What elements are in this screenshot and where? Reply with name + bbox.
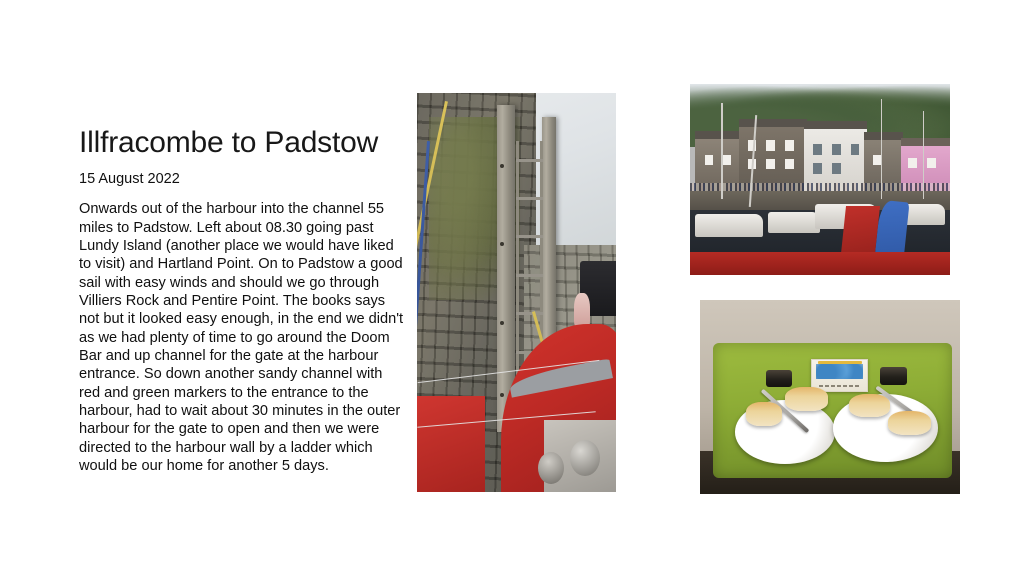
moored-boat	[768, 212, 820, 233]
padstow-harbour-photo	[690, 84, 950, 275]
boat-mast	[721, 103, 723, 199]
scone	[785, 387, 828, 410]
presentation-slide: Illfracombe to Padstow 15 August 2022 On…	[0, 0, 1024, 576]
scone	[888, 411, 931, 435]
building-white	[804, 128, 866, 191]
slide-date: 15 August 2022	[79, 170, 404, 189]
boat-mast	[923, 111, 925, 199]
cream-tea-scones-photo	[700, 300, 960, 494]
yacht-winch	[570, 440, 600, 476]
harbour-wall-ladder-photo	[417, 93, 616, 492]
slide-body-text: Onwards out of the harbour into the chan…	[79, 200, 404, 475]
scone	[849, 394, 890, 417]
slide-text-column: Illfracombe to Padstow 15 August 2022 On…	[79, 126, 404, 475]
scone	[746, 402, 782, 425]
page-title: Illfracombe to Padstow	[79, 126, 404, 160]
jam-pot-right	[880, 367, 906, 385]
green-tray	[713, 343, 952, 479]
moored-boat	[695, 214, 763, 237]
red-foreground-hull	[690, 252, 950, 275]
person-on-quay	[574, 293, 590, 329]
clotted-cream-box	[811, 359, 868, 392]
boat-mast	[881, 99, 883, 198]
yacht-spray-dodger	[417, 396, 485, 492]
jam-pot-left	[766, 370, 792, 388]
